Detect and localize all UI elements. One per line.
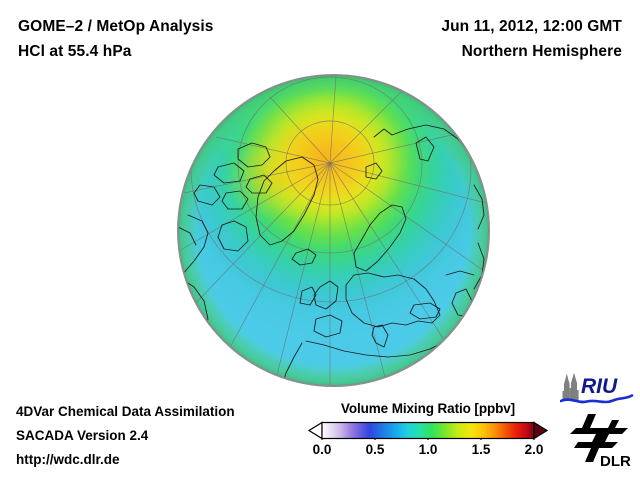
method-label: 4DVar Chemical Data Assimilation — [16, 400, 235, 424]
website-url[interactable]: http://wdc.dlr.de — [16, 448, 235, 472]
riu-logo: RIU — [560, 371, 634, 407]
colorbar-tick-1: 0.5 — [366, 442, 385, 457]
footer-left-block: 4DVar Chemical Data Assimilation SACADA … — [16, 400, 235, 472]
colorbar-high-arrow — [534, 423, 547, 439]
colorbar-strip — [308, 421, 548, 440]
colorbar-low-arrow — [309, 423, 322, 439]
riu-logo-text: RIU — [581, 375, 618, 398]
globe-disc — [178, 75, 489, 386]
colorbar-tick-0: 0.0 — [313, 442, 332, 457]
colorbar-gradient — [322, 423, 534, 439]
header-right-block: Jun 11, 2012, 12:00 GMT Northern Hemisph… — [441, 14, 622, 64]
colorbar: Volume Mixing Ratio [ppbv] — [308, 401, 548, 460]
timestamp-label: Jun 11, 2012, 12:00 GMT — [441, 14, 622, 39]
colorbar-title: Volume Mixing Ratio [ppbv] — [308, 401, 548, 416]
cathedral-towers-icon — [563, 373, 579, 402]
colorbar-tick-4: 2.0 — [525, 442, 544, 457]
hemisphere-label: Northern Hemisphere — [441, 39, 622, 64]
globe-map — [178, 75, 489, 386]
dlr-logo: DLR — [566, 412, 634, 468]
colorbar-tick-labels: 0.0 0.5 1.0 1.5 2.0 — [308, 442, 548, 460]
dlr-logo-text: DLR — [600, 453, 631, 468]
header-left-block: GOME–2 / MetOp Analysis HCl at 55.4 hPa — [18, 14, 214, 64]
version-label: SACADA Version 2.4 — [16, 424, 235, 448]
page-title: GOME–2 / MetOp Analysis — [18, 14, 214, 39]
globe-overlay — [178, 75, 489, 386]
graticule-meridians — [179, 75, 486, 386]
colorbar-tick-3: 1.5 — [472, 442, 491, 457]
colorbar-tick-2: 1.0 — [419, 442, 438, 457]
page-subtitle-species-level: HCl at 55.4 hPa — [18, 39, 214, 64]
